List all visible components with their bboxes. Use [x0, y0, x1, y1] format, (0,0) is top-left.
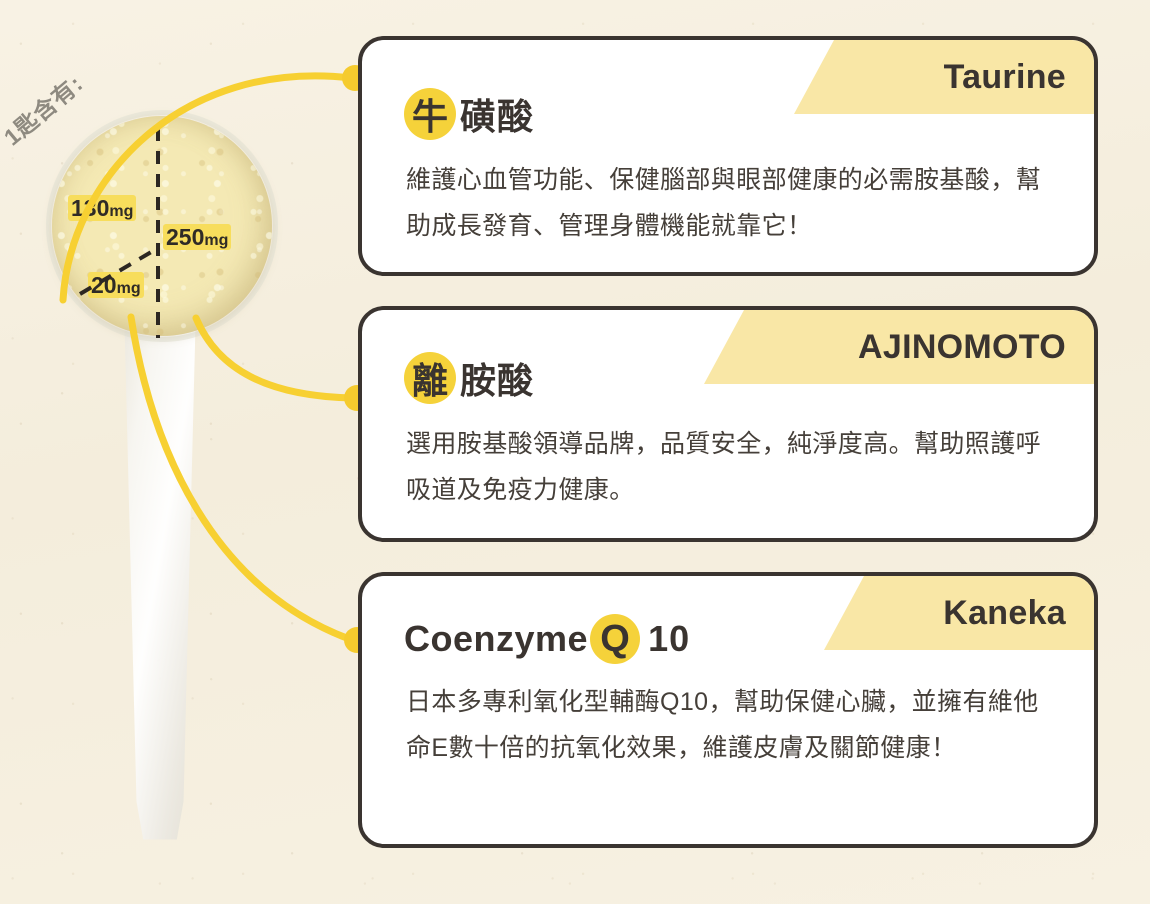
measurement-value: 130 — [71, 195, 109, 221]
title-text: 胺酸 — [460, 352, 534, 404]
title-badge-icon: 離 — [404, 352, 456, 404]
scoop-illustration: 1匙含有: 130mg 250mg 20mg — [0, 0, 350, 904]
measurement-label-lysine: 250mg — [163, 224, 231, 250]
title-badge-icon: 牛 — [404, 88, 456, 140]
brand-banner-label: Kaneka — [943, 594, 1066, 633]
ingredient-card-taurine[interactable]: Taurine 牛 磺酸 維護心血管功能、保健腦部與眼部健康的必需胺基酸，幫助成… — [358, 36, 1098, 276]
title-text: 10 — [648, 618, 690, 660]
title-prefix-text: Coenzyme — [404, 618, 588, 660]
infographic-page: 1匙含有: 130mg 250mg 20mg Taurine 牛 磺酸 維護心血… — [0, 0, 1150, 904]
card-description-coenzyme-q10: 日本多專利氧化型輔酶Q10，幫助保健心臟，並擁有維他命E數十倍的抗氧化效果，維護… — [406, 680, 1052, 771]
ingredient-card-coenzyme-q10[interactable]: Kaneka Coenzyme Q 10 日本多專利氧化型輔酶Q10，幫助保健心… — [358, 572, 1098, 848]
measurement-value: 20 — [91, 272, 117, 298]
brand-banner-coenzyme-q10: Kaneka — [824, 576, 1094, 650]
measurement-label-taurine: 130mg — [68, 195, 136, 221]
brand-banner-lysine: AJINOMOTO — [704, 310, 1094, 384]
card-description-lysine: 選用胺基酸領導品牌，品質安全，純淨度高。幫助照護呼吸道及免疫力健康。 — [406, 422, 1052, 513]
ingredient-card-lysine[interactable]: AJINOMOTO 離 胺酸 選用胺基酸領導品牌，品質安全，純淨度高。幫助照護呼… — [358, 306, 1098, 542]
card-title-lysine: 離 胺酸 — [404, 352, 534, 404]
spoon-handle — [118, 300, 202, 845]
scoop-caption: 1匙含有: — [0, 65, 89, 152]
measurement-value: 250 — [166, 224, 204, 250]
brand-banner-taurine: Taurine — [794, 40, 1094, 114]
card-title-coenzyme-q10: Coenzyme Q 10 — [404, 614, 690, 664]
title-badge-icon: Q — [590, 614, 640, 664]
measurement-unit: mg — [117, 280, 141, 297]
brand-banner-label: AJINOMOTO — [858, 328, 1066, 367]
measurement-label-coq10: 20mg — [88, 272, 144, 298]
title-text: 磺酸 — [460, 88, 534, 140]
brand-banner-label: Taurine — [944, 58, 1066, 97]
spoon-bowl-powder — [52, 116, 272, 336]
card-description-taurine: 維護心血管功能、保健腦部與眼部健康的必需胺基酸，幫助成長發育、管理身體機能就靠它… — [406, 158, 1052, 249]
card-title-taurine: 牛 磺酸 — [404, 88, 534, 140]
measurement-unit: mg — [109, 203, 133, 220]
measurement-unit: mg — [204, 232, 228, 249]
